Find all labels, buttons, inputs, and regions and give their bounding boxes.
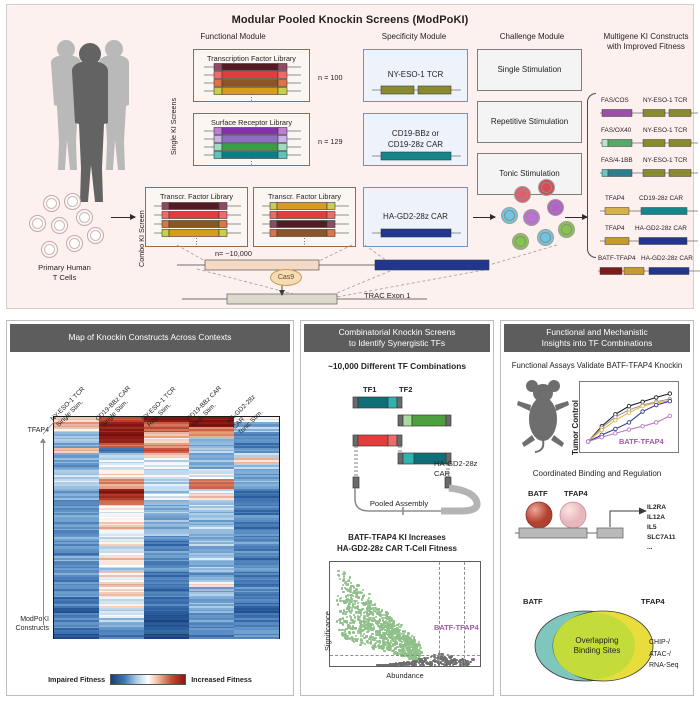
scatter-point (356, 584, 358, 586)
scatter-point (368, 597, 370, 599)
edited-cell-cyan (501, 207, 518, 224)
nyeso-cassette-icon (364, 50, 469, 103)
scatter-point (352, 595, 354, 597)
scatter-point (349, 591, 351, 593)
scatter-plot (329, 561, 481, 667)
scatter-point (374, 604, 376, 606)
scatter-point (339, 578, 341, 580)
human-silhouettes-icon (25, 27, 155, 212)
specificity-box-cd19: CD19-BBz or CD19-28z CAR (363, 113, 468, 166)
scatter-point (414, 660, 416, 662)
scatter-point (408, 658, 410, 660)
gene-item: ... (647, 543, 676, 553)
scatter-point (393, 649, 395, 651)
scatter-point (362, 635, 364, 637)
tf1-label: TF1 (363, 385, 377, 394)
scatter-point (368, 593, 370, 595)
scatter-xlabel: Abundance (329, 671, 481, 680)
construct-cassette-icon (597, 265, 700, 277)
gene-item: IL5 (647, 523, 676, 533)
construct-cassette-icon (599, 205, 699, 217)
scatter-point (375, 616, 377, 618)
cd19-cassette-icon (364, 114, 469, 167)
scatter-point (405, 638, 407, 640)
scatter-point (384, 629, 386, 631)
t-cell (66, 235, 83, 252)
scatter-point (366, 608, 368, 610)
heatmap-cell (144, 637, 189, 639)
scatter-point (402, 648, 404, 650)
scatter-point (362, 589, 364, 591)
scatter-point (370, 626, 372, 628)
multigene-constructs-label: Multigene KI Constructs with Improved Fi… (592, 32, 700, 52)
scatter-point (416, 644, 418, 646)
construct-cassette-icon (599, 137, 699, 149)
functional-module-label: Functional Module (173, 32, 293, 42)
scatter-point (371, 633, 373, 635)
tumor-chart-highlight-label: BATF-TFAP4 (619, 437, 664, 446)
construct-left-label: FAS/OX40 (601, 127, 631, 134)
functional-assays-subtitle: Functional Assays Validate BATF-TFAP4 Kn… (501, 361, 693, 372)
scatter-point (445, 658, 447, 660)
scatter-point (386, 641, 388, 643)
tf-library-count: n = 100 (318, 73, 343, 82)
scatter-point (355, 627, 357, 629)
assay-item: RNA-Seq (649, 660, 679, 672)
scatter-point (346, 588, 348, 590)
scatter-point (346, 616, 348, 618)
single-ki-screens-label: Single KI Screens (169, 98, 178, 155)
tumor-series-marker (614, 419, 618, 423)
scatter-point (363, 637, 365, 639)
surface-receptor-library-box: Surface Receptor Library ⋮ (193, 113, 310, 166)
scatter-point (425, 659, 427, 661)
scatter-point (342, 584, 344, 586)
heatmap-cell (99, 637, 144, 639)
scatter-point (377, 612, 379, 614)
figure-title: Modular Pooled Knockin Screens (ModPoKI) (7, 14, 693, 26)
target-gene-list: IL2RA IL12A IL5 SLC7A11 ... (647, 503, 676, 552)
scatter-point (388, 632, 390, 634)
assay-list: CHIP-/ ATAC-/ RNA-Seq (649, 637, 679, 672)
scatter-point (346, 637, 348, 639)
heatmap-grid (53, 416, 280, 639)
construct-left-label: TFAP4 (605, 225, 625, 232)
scatter-point (364, 603, 366, 605)
tumor-series-marker (627, 428, 631, 432)
scatter-point (414, 647, 416, 649)
scatter-threshold-line (464, 562, 465, 667)
scatter-point (338, 575, 340, 577)
tumor-series-marker (641, 404, 645, 408)
construct-right-label: HA-GD2-28z CAR (641, 255, 693, 262)
scatter-point (422, 664, 424, 666)
hagd2-cassette-icon (364, 188, 469, 248)
heatmap-cell (189, 637, 234, 639)
scatter-point (396, 624, 398, 626)
specificity-module-label: Specificity Module (359, 32, 469, 42)
construct-cassette-icon (599, 107, 699, 119)
figure-canvas: Modular Pooled Knockin Screens (ModPoKI)… (0, 0, 700, 701)
tumor-series-marker (654, 396, 658, 400)
scatter-point (379, 637, 381, 639)
scatter-point (355, 635, 357, 637)
scatter-point (432, 660, 434, 662)
scatter-point (420, 651, 422, 653)
scatter-point (337, 603, 339, 605)
scatter-point (382, 664, 384, 666)
scatter-point (385, 614, 387, 616)
scatter-point (398, 662, 400, 664)
scatter-point (357, 602, 359, 604)
construct-right-label: NY-ESO-1 TCR (643, 97, 687, 104)
scatter-point (383, 635, 385, 637)
edited-cell-red (514, 186, 531, 203)
panel-functional-insights: Functional and Mechanistic Insights into… (500, 320, 694, 696)
tumor-series-marker (654, 421, 658, 425)
tumor-series-marker (600, 428, 604, 432)
scatter-point (394, 628, 396, 630)
venn-left-label: BATF (523, 597, 543, 606)
construct-left-label: BATF-TFAP4 (598, 255, 636, 262)
t-cell (43, 195, 60, 212)
scatter-point (342, 623, 344, 625)
construct-left-label: TFAP4 (605, 195, 625, 202)
scatter-point (366, 640, 368, 642)
scatter-point (357, 597, 359, 599)
t-cell (41, 241, 58, 258)
challenge-box-repetitive: Repetitive Stimulation (477, 101, 582, 143)
scatter-point (371, 646, 373, 648)
scatter-point (345, 611, 347, 613)
scatter-point (347, 583, 349, 585)
scatter-point (351, 639, 353, 641)
scatter-point (337, 570, 339, 572)
construct-cassette-icon (599, 167, 699, 179)
edited-cell-purple (523, 209, 540, 226)
legend-colorbar (110, 674, 186, 685)
heatmap-legend: Impaired Fitness Increased Fitness (7, 674, 293, 685)
scatter-point (466, 664, 468, 666)
scatter-point (383, 621, 385, 623)
tumor-series-marker (668, 414, 672, 418)
heatmap-column (144, 417, 189, 638)
scatter-point (351, 598, 353, 600)
scatter-point (352, 631, 354, 633)
scatter-point (363, 594, 365, 596)
transcription-factor-library-box: Transcription Factor Library ⋮ (193, 49, 310, 102)
scatter-point (391, 627, 393, 629)
construct-row: TFAP4 HA-GD2-28z CAR (599, 225, 699, 249)
tumor-series-marker (668, 392, 672, 396)
assay-item: ATAC-/ (649, 649, 679, 661)
scatter-point (396, 642, 398, 644)
challenge-label-single: Single Stimulation (478, 50, 581, 90)
tf-library-ellipsis: ⋮ (194, 93, 309, 102)
scatter-point (380, 645, 382, 647)
scatter-point (350, 582, 352, 584)
scatter-point (469, 661, 471, 663)
scatter-point (344, 613, 346, 615)
legend-label-high: Increased Fitness (191, 675, 252, 684)
cas9-label: Cas9 (270, 269, 302, 286)
scatter-point (352, 627, 354, 629)
construct-row: FAS/COS NY-ESO-1 TCR (599, 97, 699, 121)
construct-right-label: CD19-28z CAR (639, 195, 683, 202)
construct-cassette-icon (599, 235, 699, 247)
construct-right-label: HA-GD2-28z CAR (635, 225, 687, 232)
challenge-module-label: Challenge Module (477, 32, 587, 42)
edited-cell-green (558, 221, 575, 238)
scatter-point (359, 644, 361, 646)
scatter-point (354, 616, 356, 618)
scatter-point (434, 664, 436, 666)
scatter-point (401, 633, 403, 635)
scatter-point (407, 662, 409, 664)
heatmap-top-leader-line (43, 421, 55, 437)
sr-library-ellipsis: ⋮ (194, 157, 309, 166)
scatter-point (352, 621, 354, 623)
panel-heatmap: Map of Knockin Constructs Across Context… (6, 320, 294, 696)
t-cell (51, 217, 68, 234)
arrow-to-edited-cells (473, 217, 495, 218)
tumor-series-marker (668, 399, 672, 403)
gene-item: IL12A (647, 513, 676, 523)
pooled-assembly-label: Pooled Assembly (349, 499, 449, 508)
trac-exon-label: TRAC Exon 1 (364, 291, 410, 300)
scatter-highlight-point (471, 658, 474, 661)
scatter-point (396, 646, 398, 648)
heatmap-cell (234, 637, 279, 639)
mouse-icon (515, 379, 571, 453)
tumor-series-marker (614, 427, 618, 431)
scatter-point (428, 662, 430, 664)
construct-left-label: FAS/4-1BB (601, 157, 633, 164)
tumor-series-marker (627, 411, 631, 415)
scatter-point (354, 592, 356, 594)
scatter-point (381, 627, 383, 629)
pooled-assembly-diagram (341, 395, 491, 515)
scatter-point (339, 600, 341, 602)
specificity-box-nyeso: NY-ESO-1 TCR (363, 49, 468, 102)
scatter-highlight-label: BATF-TFAP4 (434, 623, 479, 632)
scatter-point (380, 634, 382, 636)
scatter-point (363, 621, 365, 623)
tumor-series-marker (614, 432, 618, 436)
scatter-point (413, 636, 415, 638)
scatter-point (374, 607, 376, 609)
scatter-point (370, 623, 372, 625)
arrow-tcells-to-combo (111, 217, 135, 218)
venn-right-label: TFAP4 (641, 597, 665, 606)
scatter-point (345, 621, 347, 623)
scatter-point (349, 576, 351, 578)
scatter-point (374, 637, 376, 639)
tumor-series-marker (641, 425, 645, 429)
combo-tf-library-box-1: Transcr. Factor Library ⋮ (145, 187, 248, 247)
tumor-series-marker (586, 440, 590, 444)
scatter-point (354, 603, 356, 605)
construct-row: FAS/OX40 NY-ESO-1 TCR (599, 127, 699, 151)
scatter-point (348, 631, 350, 633)
t-cell (76, 209, 93, 226)
construct-right-label: NY-ESO-1 TCR (643, 127, 687, 134)
scatter-point (400, 624, 402, 626)
scatter-point (380, 611, 382, 613)
t-cell (29, 215, 46, 232)
scatter-point (385, 611, 387, 613)
construct-row: TFAP4 CD19-28z CAR (599, 195, 699, 219)
scatter-point (342, 591, 344, 593)
tumor-series-marker (641, 410, 645, 414)
scatter-point (379, 640, 381, 642)
construct-right-label: NY-ESO-1 TCR (643, 157, 687, 164)
scatter-point (344, 629, 346, 631)
scatter-point (361, 598, 363, 600)
scatter-point (372, 620, 374, 622)
scatter-point (366, 631, 368, 633)
scatter-point (348, 610, 350, 612)
coordinated-binding-subtitle: Coordinated Binding and Regulation (501, 469, 693, 480)
tumor-series-marker (654, 403, 658, 407)
tf-combinations-subtitle: ~10,000 Different TF Combinations (301, 361, 493, 372)
panel-combinatorial-screens: Combinatorial Knockin Screens to Identif… (300, 320, 494, 696)
panel-mid-header: Combinatorial Knockin Screens to Identif… (304, 324, 490, 352)
heatmap-cell (54, 637, 99, 639)
construct-row: FAS/4-1BB NY-ESO-1 TCR (599, 157, 699, 181)
t-cell (87, 227, 104, 244)
scatter-point (401, 641, 403, 643)
edited-cell-red (538, 179, 555, 196)
combo-tf-library-box-2: Transcr. Factor Library ⋮ (253, 187, 356, 247)
constructs-brace (587, 93, 596, 258)
scatter-point (399, 634, 401, 636)
tf2-label: TF2 (399, 385, 413, 394)
tumor-series-marker (627, 404, 631, 408)
scatter-point (368, 605, 370, 607)
heatmap-column (99, 417, 144, 638)
scatter-point (374, 610, 376, 612)
construct-left-label: FAS/COS (601, 97, 629, 104)
t-cells-caption: Primary Human T Cells (17, 263, 112, 283)
heatmap-column (234, 417, 279, 638)
panel-right-header: Functional and Mechanistic Insights into… (504, 324, 690, 352)
challenge-label-repetitive: Repetitive Stimulation (478, 102, 581, 142)
scatter-significance-line (330, 655, 480, 656)
panel-heatmap-header: Map of Knockin Constructs Across Context… (10, 324, 290, 352)
scatter-point (383, 650, 385, 652)
edited-cell-purple (547, 199, 564, 216)
scatter-point (353, 641, 355, 643)
construct-row: BATF-TFAP4 HA-GD2-28z CAR (597, 255, 700, 279)
scatter-point (388, 664, 390, 666)
heatmap-column (54, 417, 99, 638)
scatter-point (448, 663, 450, 665)
sr-library-count: n = 129 (318, 137, 343, 146)
top-overview-panel: Modular Pooled Knockin Screens (ModPoKI)… (6, 4, 694, 309)
scatter-threshold-line (439, 562, 440, 667)
heatmap-column (189, 417, 234, 638)
scatter-point (336, 599, 338, 601)
gene-item: IL2RA (647, 503, 676, 513)
primary-t-cells-cluster: Primary Human T Cells (17, 193, 112, 273)
legend-label-low: Impaired Fitness (48, 675, 105, 684)
t-cell (64, 193, 81, 210)
scatter-ylabel: Significance (323, 611, 332, 651)
scatter-point (402, 630, 404, 632)
scatter-title: BATF-TFAP4 KI Increases HA-GD2-28z CAR T… (301, 533, 493, 555)
scatter-point (458, 660, 460, 662)
challenge-box-single: Single Stimulation (477, 49, 582, 91)
scatter-point (382, 632, 384, 634)
scatter-point (413, 643, 415, 645)
scatter-point (363, 617, 365, 619)
scatter-point (402, 644, 404, 646)
knockin-construct-diagram (137, 243, 567, 305)
scatter-point (381, 648, 383, 650)
scatter-point (337, 595, 339, 597)
tumor-series-marker (600, 435, 604, 439)
scatter-point (382, 641, 384, 643)
scatter-point (354, 638, 356, 640)
scatter-point (340, 597, 342, 599)
scatter-point (455, 662, 457, 664)
scatter-point (398, 629, 400, 631)
gene-item: SLC7A11 (647, 533, 676, 543)
car-backbone-label: HA-GD2-28z CAR (434, 459, 492, 479)
scatter-point (383, 638, 385, 640)
heatmap-rank-axis-arrow (43, 443, 44, 625)
specificity-box-hagd2: HA-GD2-28z CAR (363, 187, 468, 247)
scatter-point (377, 620, 379, 622)
tumor-series-marker (627, 421, 631, 425)
scatter-point (386, 625, 388, 627)
assay-item: CHIP-/ (649, 637, 679, 649)
